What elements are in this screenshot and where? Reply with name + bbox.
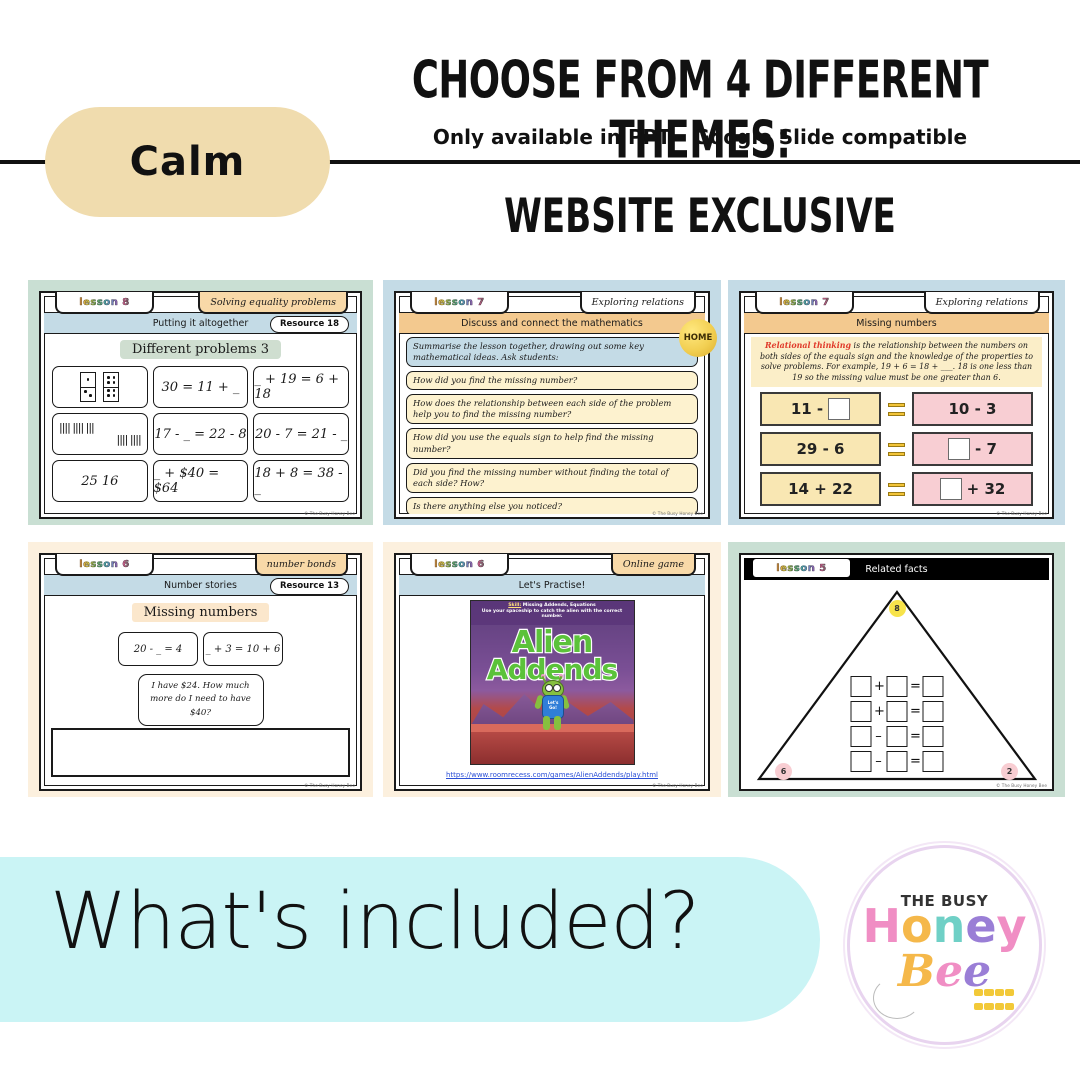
question-item: How does the relationship between each s… — [406, 394, 698, 424]
slide-frame: lesson 6 number bonds Number stories Res… — [39, 553, 362, 791]
question-intro: Summarise the lesson together, drawing o… — [406, 337, 698, 367]
fact-row: + = — [850, 676, 943, 697]
home-button[interactable]: HOME — [679, 319, 717, 357]
fact-operator: – — [874, 729, 883, 744]
alien-badge-label: Let's Go! — [543, 701, 563, 710]
definition-box: Relational thinking is the relationship … — [751, 337, 1042, 387]
slide-frame: lesson 7 Exploring relations Discuss and… — [394, 291, 710, 519]
slide-card-lesson5-related-facts[interactable]: Related facts lesson 5 8 6 2 + = — [728, 542, 1065, 797]
equation-left-text: 29 - 6 — [797, 440, 845, 458]
game-skill-label: Skill: — [508, 603, 521, 608]
fact-family-rows: + = + = – — [850, 676, 943, 772]
equation-right[interactable]: 10 - 3 — [912, 392, 1033, 426]
domino-tile — [80, 372, 96, 402]
slide-subtitle: Let's Practise! — [519, 580, 586, 591]
question-item: How did you find the missing number? — [406, 371, 698, 390]
copyright-text: © The Busy Honey Bee — [996, 511, 1047, 516]
lesson-tab: lesson 5 — [753, 559, 850, 577]
problem-box-equation: 17 - _ = 22 - 8 — [153, 413, 249, 455]
cta-text: What's included? — [50, 877, 770, 967]
slide-subtitle: Related facts — [865, 564, 927, 575]
slide-body: Skill: Missing Addends, Equations Use yo… — [399, 594, 705, 786]
problem-box-equation: _ + $40 = $64 — [153, 460, 249, 502]
slide-body: Summarise the lesson together, drawing o… — [399, 332, 705, 514]
definition-term: Relational thinking — [765, 341, 851, 350]
topic-tab-label: Exploring relations — [592, 297, 684, 308]
equation-right-text: + 32 — [967, 480, 1006, 498]
topic-tab: Exploring relations — [580, 292, 696, 314]
problem-grid: 30 = 11 + _ _ + 19 = 6 + 18 |||| |||| ||… — [44, 359, 357, 502]
equation-right-text: 10 - 3 — [949, 400, 997, 418]
slide-title-chip: Missing numbers — [132, 603, 270, 622]
fact-blank[interactable] — [850, 701, 871, 722]
fact-operator: – — [874, 754, 883, 769]
fact-blank[interactable] — [886, 751, 907, 772]
equation-right-text: - 7 — [975, 440, 997, 458]
fact-blank[interactable] — [850, 676, 871, 697]
game-skill-line: Skill: Missing Addends, Equations — [471, 603, 634, 608]
slide-subtitle-bar: Putting it altogether Resource 18 — [44, 312, 357, 334]
lesson-tab: lesson 8 — [55, 292, 154, 314]
game-banner: Skill: Missing Addends, Equations Use yo… — [471, 601, 634, 625]
lesson-tab-label: lesson 6 — [79, 559, 130, 570]
lesson-tab-label: lesson 8 — [79, 297, 130, 308]
game-thumbnail[interactable]: Skill: Missing Addends, Equations Use yo… — [470, 600, 635, 765]
slide-subtitle-bar: Discuss and connect the mathematics — [399, 312, 705, 334]
fact-blank[interactable] — [922, 676, 943, 697]
copyright-text: © The Busy Honey Bee — [304, 511, 355, 516]
fact-operator: + — [874, 679, 883, 694]
fact-blank[interactable] — [850, 751, 871, 772]
game-url-link[interactable]: https://www.roomrecess.com/games/AlienAd… — [446, 771, 658, 779]
equation-right[interactable]: - 7 — [912, 432, 1033, 466]
fact-blank[interactable] — [886, 701, 907, 722]
problem-box-equation: 18 + 8 = 38 - _ — [253, 460, 349, 502]
fact-equals: = — [910, 704, 919, 719]
fact-equals: = — [910, 679, 919, 694]
theme-pill-calm: Calm — [45, 107, 330, 217]
small-equation-row: 20 - _ = 4 _ + 3 = 10 + 6 — [44, 632, 357, 666]
small-equation-box: _ + 3 = 10 + 6 — [203, 632, 283, 666]
answer-blank[interactable] — [948, 438, 970, 460]
honeycomb-icon — [974, 989, 1014, 1015]
theme-pill-label: Calm — [130, 139, 246, 185]
fact-equals: = — [910, 729, 919, 744]
problem-box-numbers: 25 16 — [52, 460, 148, 502]
subheadline: Only available in PPT - Google Slide com… — [350, 125, 1050, 149]
lesson-tab-label: lesson 6 — [434, 559, 485, 570]
topic-tab: number bonds — [255, 554, 348, 576]
equation-row: 14 + 22 + 32 — [760, 472, 1033, 506]
fact-row: – = — [850, 726, 943, 747]
fact-triangle-area: 8 6 2 + = + = — [744, 580, 1049, 786]
answer-blank[interactable] — [940, 478, 962, 500]
fact-blank[interactable] — [922, 726, 943, 747]
game-instruction: Use your spaceship to catch the alien wi… — [471, 609, 634, 619]
slide-subtitle: Putting it altogether — [153, 318, 249, 329]
copyright-text: © The Busy Honey Bee — [304, 783, 355, 788]
tally-row-2: |||| |||| — [59, 434, 141, 446]
alien-character-icon: Let's Go! — [535, 678, 569, 734]
question-item: Did you find the missing number without … — [406, 463, 698, 493]
topic-tab: Exploring relations — [924, 292, 1040, 314]
equals-sign-icon — [888, 443, 905, 456]
equation-row: 29 - 6 - 7 — [760, 432, 1033, 466]
node-apex: 8 — [889, 600, 906, 617]
slide-frame: lesson 6 Online game Let's Practise! Ski… — [394, 553, 710, 791]
problem-box-equation: 30 = 11 + _ — [153, 366, 249, 408]
slide-frame: lesson 8 Solving equality problems Putti… — [39, 291, 362, 519]
fact-row: + = — [850, 701, 943, 722]
slide-subtitle-bar: Missing numbers — [744, 312, 1049, 334]
problem-box-tally: |||| |||| ||| |||| |||| — [52, 413, 148, 455]
equals-sign-icon — [888, 483, 905, 496]
topic-tab-label: Exploring relations — [936, 297, 1028, 308]
copyright-text: © The Busy Honey Bee — [652, 783, 703, 788]
slide-frame: Related facts lesson 5 8 6 2 + = — [739, 553, 1054, 791]
fact-blank[interactable] — [886, 676, 907, 697]
topic-tab-label: Online game — [623, 559, 684, 570]
question-item: How did you use the equals sign to help … — [406, 428, 698, 458]
node-bottom-right: 2 — [1001, 763, 1018, 780]
slide-subtitle-bar: Number stories Resource 13 — [44, 574, 357, 596]
slide-subtitle: Discuss and connect the mathematics — [461, 318, 643, 329]
slide-subtitle: Number stories — [164, 580, 237, 591]
topic-tab: Online game — [611, 554, 696, 576]
topic-tab-label: Solving equality problems — [210, 297, 336, 308]
headline: CHOOSE FROM 4 DIFFERENT THEMES: — [350, 50, 1050, 170]
dominoes-icon — [80, 372, 119, 402]
small-equation-box: 20 - _ = 4 — [118, 632, 198, 666]
slide-card-lesson7-discuss[interactable]: lesson 7 Exploring relations Discuss and… — [383, 280, 721, 525]
question-list: Summarise the lesson together, drawing o… — [399, 332, 705, 514]
equation-left[interactable]: 11 - — [760, 392, 881, 426]
fact-blank[interactable] — [886, 726, 907, 747]
lesson-tab: lesson 6 — [410, 554, 509, 576]
slide-card-lesson6-online-game[interactable]: lesson 6 Online game Let's Practise! Ski… — [383, 542, 721, 797]
node-bottom-left: 6 — [775, 763, 792, 780]
equals-sign-icon — [888, 403, 905, 416]
fact-equals: = — [910, 754, 919, 769]
problem-box-equation: _ + 19 = 6 + 18 — [253, 366, 349, 408]
slide-preview-grid: lesson 8 Solving equality problems Putti… — [0, 272, 1080, 817]
word-problem-box: I have $24. How much more do I need to h… — [138, 674, 264, 726]
lesson-tab: lesson 7 — [410, 292, 509, 314]
equation-row: 11 - 10 - 3 — [760, 392, 1033, 426]
slide-body: Missing numbers 20 - _ = 4 _ + 3 = 10 + … — [44, 594, 357, 786]
slide-body: Relational thinking is the relationship … — [744, 332, 1049, 514]
copyright-text: © The Busy Honey Bee — [652, 511, 703, 516]
slide-title-chip: Different problems 3 — [120, 340, 281, 359]
game-preview-wrapper: Skill: Missing Addends, Equations Use yo… — [399, 594, 705, 779]
problem-box-dominoes — [52, 366, 148, 408]
fact-blank[interactable] — [922, 751, 943, 772]
equation-left-text: 14 + 22 — [788, 480, 853, 498]
slide-subtitle-bar: Let's Practise! — [399, 574, 705, 596]
fact-blank[interactable] — [850, 726, 871, 747]
slide-frame: lesson 7 Exploring relations Missing num… — [739, 291, 1054, 519]
problem-box-equation: 20 - 7 = 21 - _ — [253, 413, 349, 455]
resource-badge: Resource 13 — [270, 578, 349, 595]
lesson-tab: lesson 6 — [55, 554, 154, 576]
answer-blank[interactable] — [828, 398, 850, 420]
lesson-tab: lesson 7 — [755, 292, 854, 314]
slide-card-lesson6-number-stories[interactable]: lesson 6 number bonds Number stories Res… — [28, 542, 373, 797]
brand-logo: THE BUSY Honey Bee — [847, 845, 1042, 1045]
logo-honey-text: Honey — [847, 903, 1042, 949]
copyright-text: © The Busy Honey Bee — [996, 783, 1047, 788]
game-skill-text: Missing Addends, Equations — [521, 603, 596, 608]
equation-left[interactable]: 14 + 22 — [760, 472, 881, 506]
domino-tile — [103, 372, 119, 402]
answer-workspace[interactable] — [51, 728, 350, 777]
fact-row: – = — [850, 751, 943, 772]
lesson-tab-label: lesson 5 — [776, 563, 827, 574]
fact-blank[interactable] — [922, 701, 943, 722]
equation-left[interactable]: 29 - 6 — [760, 432, 881, 466]
lesson-tab-label: lesson 7 — [779, 297, 830, 308]
resource-badge: Resource 18 — [270, 316, 349, 333]
fact-operator: + — [874, 704, 883, 719]
topic-tab-label: number bonds — [267, 559, 336, 570]
equation-left-text: 11 - — [791, 400, 823, 418]
topic-tab: Solving equality problems — [198, 292, 348, 314]
slide-card-lesson8-different-problems[interactable]: lesson 8 Solving equality problems Putti… — [28, 280, 373, 525]
slide-body: Different problems 3 — [44, 332, 357, 514]
game-title: Alien Addends — [471, 629, 634, 682]
slide-card-lesson7-missing-numbers[interactable]: lesson 7 Exploring relations Missing num… — [728, 280, 1065, 525]
lesson-tab-label: lesson 7 — [434, 297, 485, 308]
swirl-decoration-icon — [873, 977, 921, 1019]
slide-subtitle: Missing numbers — [856, 318, 936, 329]
equation-rows: 11 - 10 - 3 29 - 6 — [744, 387, 1049, 506]
website-exclusive-label: WEBSITE EXCLUSIVE — [350, 188, 1050, 243]
top-banner: Calm CHOOSE FROM 4 DIFFERENT THEMES: Onl… — [0, 0, 1080, 250]
equation-right[interactable]: + 32 — [912, 472, 1033, 506]
bottom-banner: What's included? THE BUSY Honey Bee — [0, 845, 1080, 1080]
tally-marks: |||| |||| ||| |||| |||| — [53, 414, 147, 454]
